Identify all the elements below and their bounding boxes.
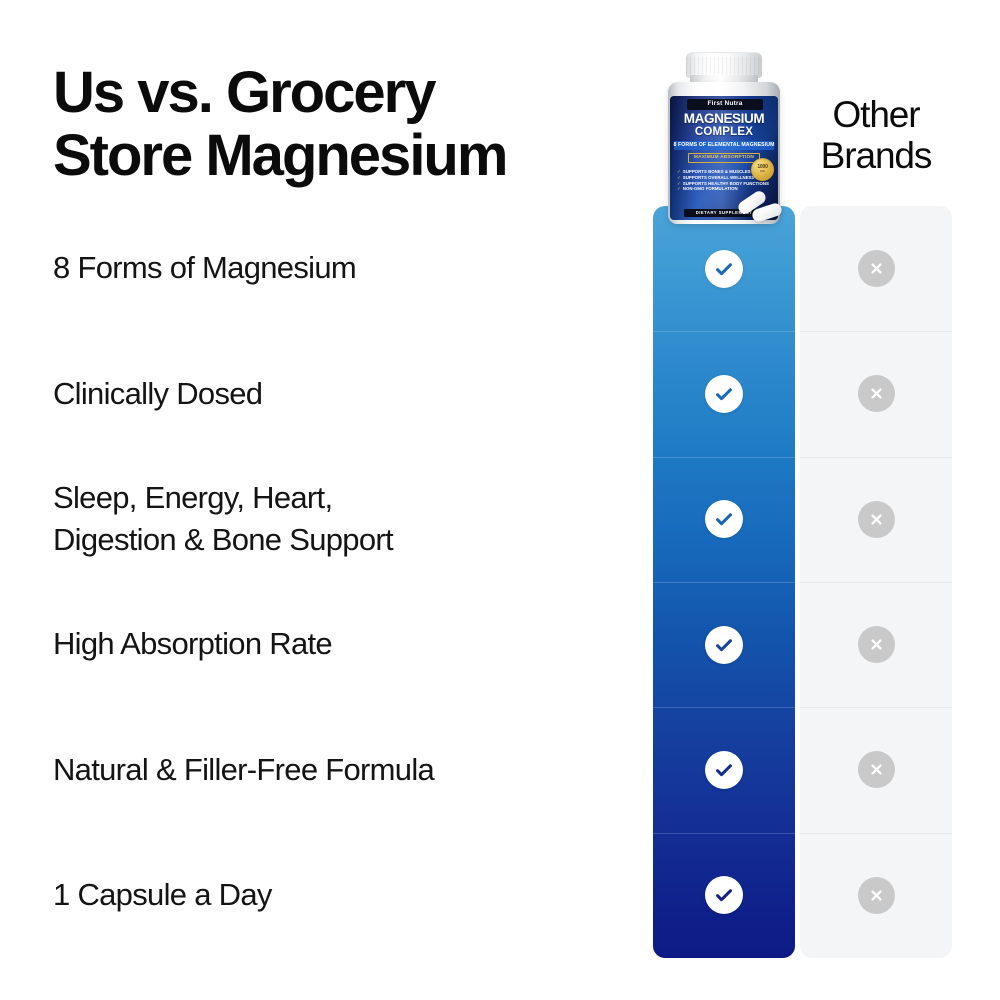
product-bullet-text: NON-GMO FORMULATION <box>683 187 738 191</box>
x-circle-icon <box>858 250 895 287</box>
other-cell-1 <box>800 206 952 331</box>
seal-unit: MG <box>760 170 765 173</box>
check-mark-icon: ✓ <box>677 170 681 175</box>
check-mark-icon: ✓ <box>677 176 681 181</box>
product-bullet: ✓SUPPORTS BONES & MUSCLES <box>677 170 754 175</box>
product-bullet: ✓SUPPORTS HEALTHY BODY FUNCTIONS <box>677 182 754 187</box>
feature-label: Natural & Filler-Free Formula <box>53 749 434 792</box>
feature-row: Sleep, Energy, Heart, Digestion & Bone S… <box>53 457 633 582</box>
bottle-cap-ribs <box>686 57 762 74</box>
other-cell-6 <box>800 833 952 958</box>
other-brands-column <box>800 206 952 958</box>
x-circle-icon <box>858 877 895 914</box>
product-forms-text: 8 FORMS OF ELEMENTAL MAGNESIUM <box>673 143 774 148</box>
product-name-line1: MAGNESIUM <box>670 112 778 126</box>
feature-label: Clinically Dosed <box>53 373 262 416</box>
our-cell-5 <box>653 707 795 832</box>
product-potency-seal: 1000 MG <box>751 158 774 181</box>
product-bullet-text: SUPPORTS HEALTHY BODY FUNCTIONS <box>683 182 769 186</box>
feature-label: 1 Capsule a Day <box>53 874 272 917</box>
product-bullet: ✓NON-GMO FORMULATION <box>677 187 754 192</box>
product-bullet-text: SUPPORTS BONES & MUSCLES <box>683 170 751 174</box>
feature-row: Clinically Dosed <box>53 331 633 456</box>
product-absorption-strip: MAXIMUM ABSORPTION <box>688 153 760 163</box>
other-cell-5 <box>800 707 952 832</box>
product-bullet: ✓SUPPORTS OVERALL WELLNESS <box>677 176 754 181</box>
check-circle-icon <box>705 626 743 664</box>
other-cell-2 <box>800 331 952 456</box>
other-cell-3 <box>800 457 952 582</box>
product-bullet-text: SUPPORTS OVERALL WELLNESS <box>683 176 755 180</box>
our-cell-1 <box>653 206 795 331</box>
x-circle-icon <box>858 375 895 412</box>
x-circle-icon <box>858 626 895 663</box>
feature-row: 1 Capsule a Day <box>53 833 633 958</box>
other-cell-4 <box>800 582 952 707</box>
product-bottle-image: First Nutra MAGNESIUM COMPLEX 8 FORMS OF… <box>663 52 785 224</box>
check-circle-icon <box>705 876 743 914</box>
feature-label: 8 Forms of Magnesium <box>53 247 356 290</box>
our-cell-2 <box>653 331 795 456</box>
feature-row: High Absorption Rate <box>53 582 633 707</box>
check-circle-icon <box>705 250 743 288</box>
product-bullet-list: ✓SUPPORTS BONES & MUSCLES ✓SUPPORTS OVER… <box>677 170 754 193</box>
feature-row: Natural & Filler-Free Formula <box>53 707 633 832</box>
our-cell-6 <box>653 833 795 958</box>
feature-label: Sleep, Energy, Heart, Digestion & Bone S… <box>53 477 393 563</box>
our-cell-3 <box>653 457 795 582</box>
product-forms-strip: 8 FORMS OF ELEMENTAL MAGNESIUM <box>674 141 774 150</box>
x-circle-icon <box>858 501 895 538</box>
our-cell-4 <box>653 582 795 707</box>
product-absorption-text: MAXIMUM ABSORPTION <box>694 156 754 161</box>
comparison-infographic: Us vs. Grocery Store Magnesium Other Bra… <box>0 0 1000 1000</box>
check-circle-icon <box>705 751 743 789</box>
feature-row: 8 Forms of Magnesium <box>53 206 633 331</box>
product-name-line2: COMPLEX <box>670 127 778 139</box>
check-mark-icon: ✓ <box>677 187 681 192</box>
check-circle-icon <box>705 375 743 413</box>
feature-label: High Absorption Rate <box>53 623 332 666</box>
other-brands-column-header: Other Brands <box>800 94 952 177</box>
page-title: Us vs. Grocery Store Magnesium <box>53 62 653 187</box>
product-brand: First Nutra <box>707 101 742 108</box>
feature-label-column: 8 Forms of Magnesium Clinically Dosed Sl… <box>53 206 633 958</box>
x-circle-icon <box>858 751 895 788</box>
our-product-column <box>653 206 795 958</box>
product-brand-bar: First Nutra <box>687 99 763 110</box>
check-circle-icon <box>705 500 743 538</box>
